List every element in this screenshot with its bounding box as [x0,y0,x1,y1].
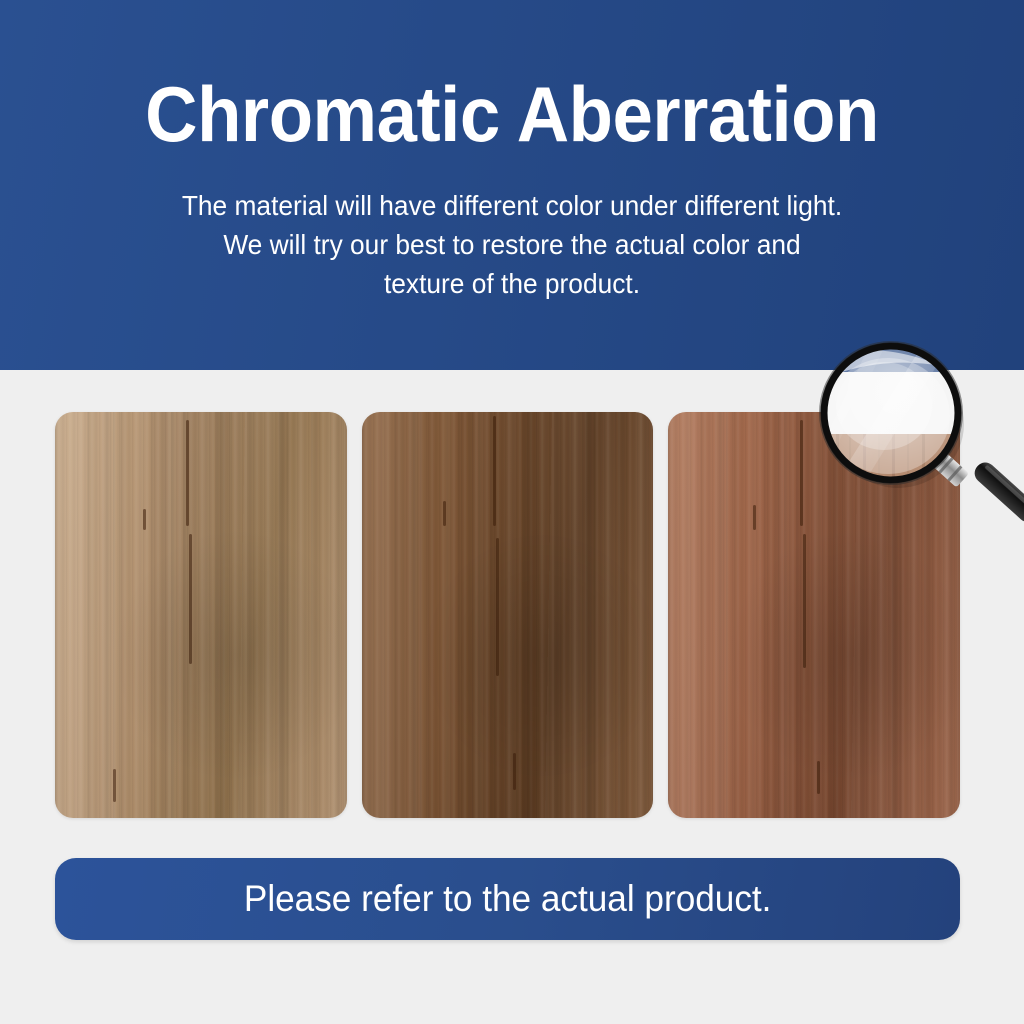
wood-shading-overlay [55,412,347,818]
bottom-banner[interactable]: Please refer to the actual product. [55,858,960,940]
bottom-banner-label: Please refer to the actual product. [244,878,772,920]
header-banner: Chromatic Aberration The material will h… [0,0,1024,370]
header-subtitle: The material will have different color u… [31,186,994,303]
magnifier-handle [971,458,1024,526]
mahogany-swatch[interactable] [668,412,960,818]
subtitle-line-1: The material will have different color u… [31,186,994,225]
page-title: Chromatic Aberration [36,74,988,156]
subtitle-line-2: We will try our best to restore the actu… [31,225,994,264]
subtitle-line-3: texture of the product. [31,264,994,303]
light-oak-swatch[interactable] [55,412,347,818]
wood-swatch-row [55,412,960,818]
wood-shading-overlay [668,412,960,818]
wood-shading-overlay [362,412,654,818]
walnut-swatch[interactable] [362,412,654,818]
